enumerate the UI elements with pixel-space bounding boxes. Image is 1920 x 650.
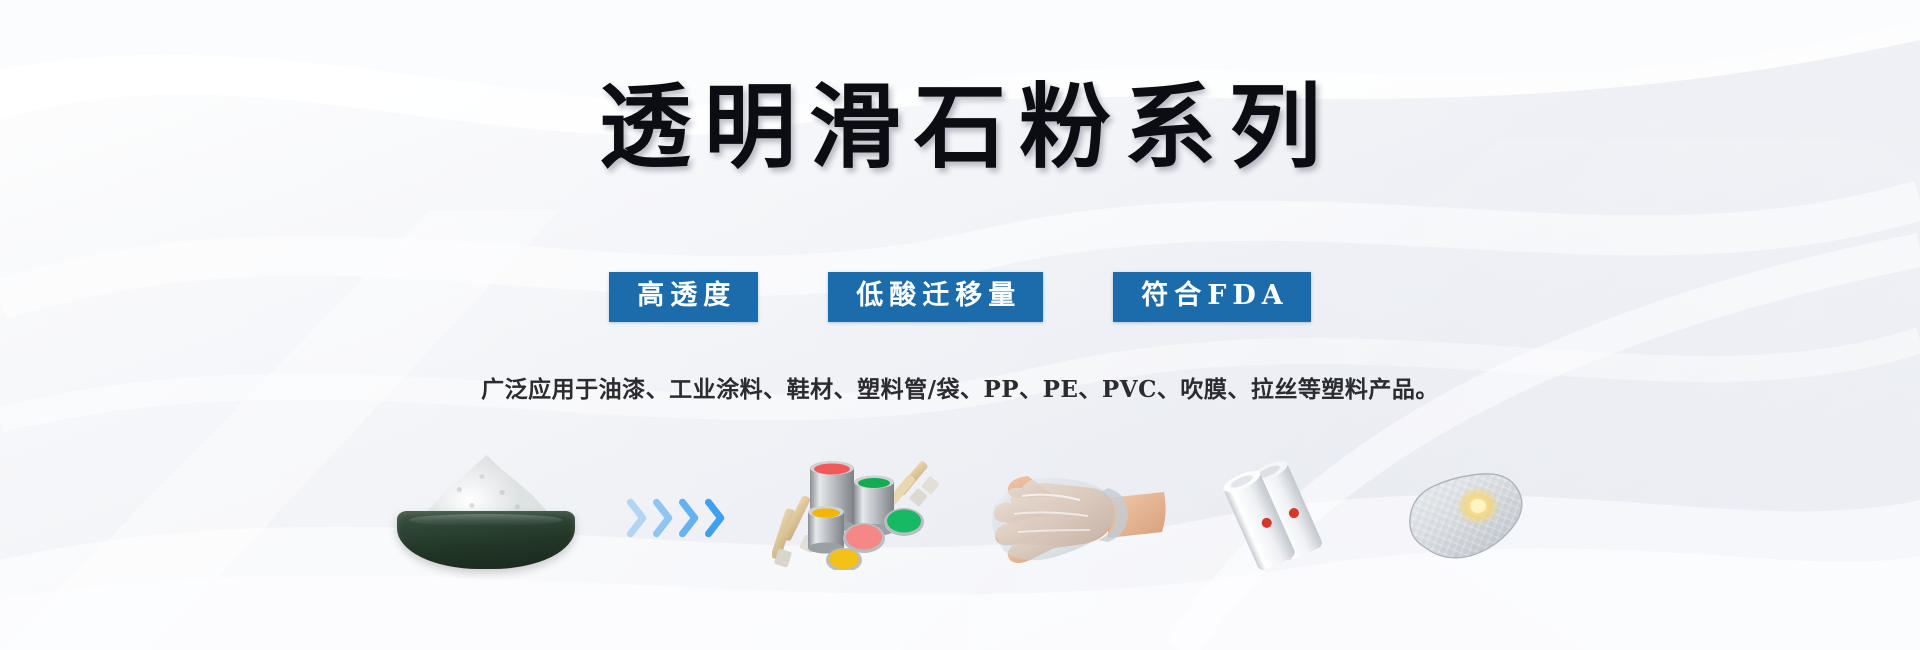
chevron-right-icon [627,498,648,538]
application-description: 广泛应用于油漆、工业涂料、鞋材、塑料管/袋、PP、PE、PVC、吹膜、拉丝等塑料… [0,370,1920,404]
paint-cans-image [772,450,942,570]
gloved-hand-svg [988,458,1168,570]
film-rolls-svg [1214,460,1354,570]
page-title: 透明滑石粉系列 [0,78,1920,177]
green-bowl [397,511,575,569]
paint-can-yellow [808,506,844,554]
chevron-right-icon [679,498,700,538]
paint-cans-svg [772,450,942,570]
chevron-right-icon [653,498,674,538]
process-arrows [627,498,726,570]
film-rolls-image [1214,460,1354,570]
shoe-sole-image [1400,460,1530,570]
product-image-strip [0,430,1920,570]
badge-fda-compliant[interactable]: 符合FDA [1113,272,1311,322]
badge-high-transparency[interactable]: 高透度 [609,272,758,322]
shoe-sole-svg [1400,460,1530,570]
badge-low-acid-migration[interactable]: 低酸迁移量 [828,272,1043,322]
talc-powder-bowl-image [391,455,581,570]
feature-badge-group: 高透度 低酸迁移量 符合FDA [0,272,1920,322]
chevron-right-icon [705,498,726,538]
product-banner: 透明滑石粉系列 高透度 低酸迁移量 符合FDA 广泛应用于油漆、工业涂料、鞋材、… [0,0,1920,650]
gloved-hand-image [988,458,1168,570]
